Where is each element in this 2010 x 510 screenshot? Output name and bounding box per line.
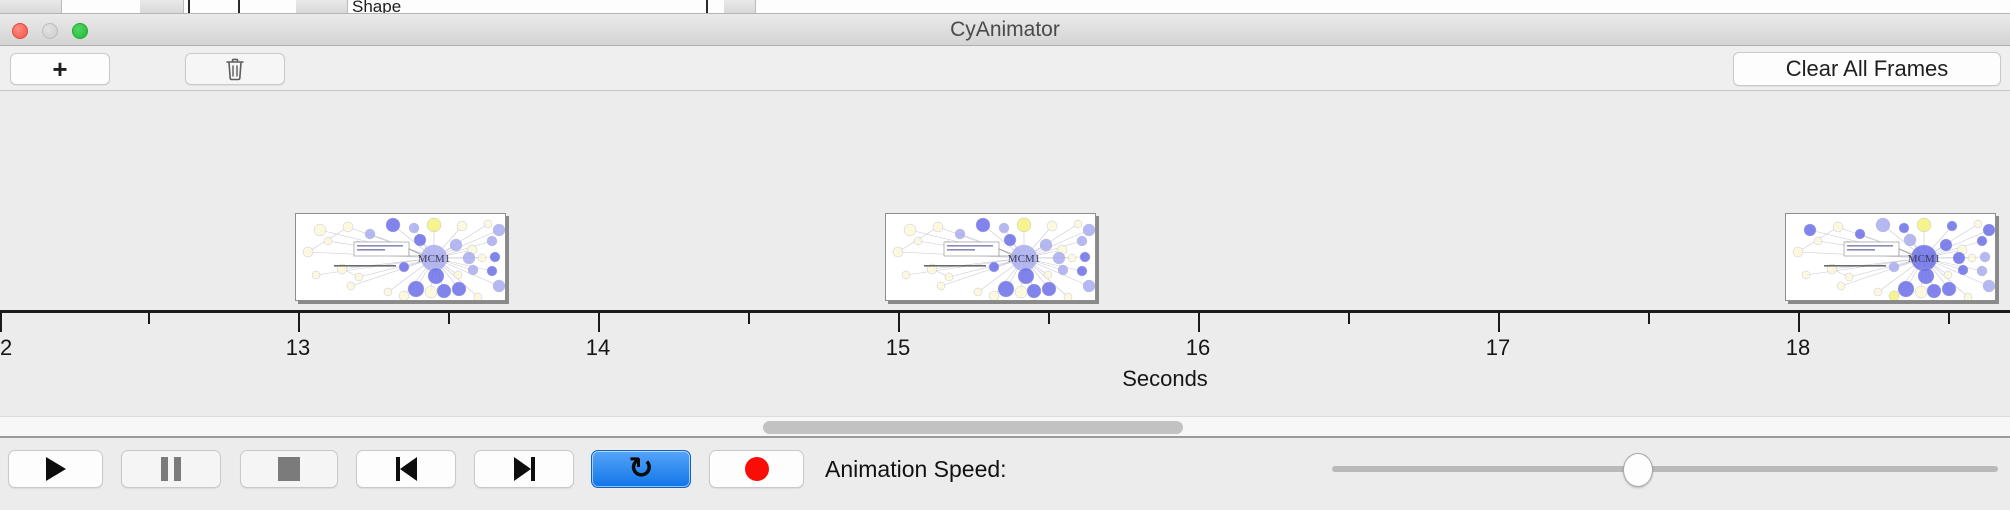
svg-text:MCM1: MCM1 — [1908, 253, 1940, 265]
play-button[interactable] — [8, 450, 103, 488]
pause-button[interactable] — [121, 450, 221, 488]
background-window-tab — [724, 0, 756, 14]
timeline-tick-major — [298, 313, 300, 332]
timeline-tick-minor — [148, 313, 150, 324]
timeline-tick-minor — [448, 313, 450, 324]
background-window-mark — [188, 0, 190, 14]
stop-button[interactable] — [240, 450, 338, 488]
timeline-tick-major — [1498, 313, 1500, 332]
background-window-tab — [0, 0, 62, 14]
horizontal-scrollbar-thumb[interactable] — [763, 421, 1183, 434]
plus-icon: + — [52, 56, 67, 82]
skip-to-start-icon — [396, 457, 417, 481]
background-window-mark — [706, 0, 708, 14]
background-window-mark — [238, 0, 240, 14]
stop-icon — [278, 457, 300, 481]
loop-button[interactable]: ↻ — [591, 450, 691, 488]
window-title: CyAnimator — [0, 14, 2010, 46]
delete-frame-button[interactable] — [185, 53, 285, 85]
skip-to-start-button[interactable] — [356, 450, 456, 488]
clear-all-frames-button[interactable]: Clear All Frames — [1733, 52, 2001, 86]
background-window-sliver: Shape — [0, 0, 2010, 14]
add-frame-button[interactable]: + — [10, 53, 110, 85]
frame-toolbar: + Clear All Frames — [0, 46, 2010, 91]
record-icon — [745, 457, 769, 481]
svg-text:MCM1: MCM1 — [418, 253, 450, 265]
frame-thumbnail-1[interactable]: MCM1 — [295, 213, 506, 301]
timeline-tick-major — [898, 313, 900, 332]
timeline-tick-label: 13 — [268, 335, 328, 361]
frame-thumbnail-2[interactable]: MCM1 — [885, 213, 1096, 301]
play-icon — [46, 457, 66, 481]
animation-speed-label: Animation Speed: — [825, 450, 1007, 488]
timeline-tick-minor — [1948, 313, 1950, 324]
trash-icon — [224, 57, 246, 81]
loop-icon: ↻ — [628, 454, 653, 484]
window-titlebar: CyAnimator — [0, 14, 2010, 46]
timeline-tick-major — [1198, 313, 1200, 332]
timeline-tick-label: 12 — [0, 335, 30, 361]
axis-title: Seconds — [160, 366, 2010, 392]
skip-to-end-button[interactable] — [474, 450, 574, 488]
animation-speed-slider-thumb[interactable] — [1623, 453, 1653, 487]
background-window-tab — [296, 0, 348, 14]
record-button[interactable] — [709, 450, 804, 488]
timeline-tick-label: 15 — [868, 335, 928, 361]
animation-speed-slider-track[interactable] — [1332, 466, 1998, 472]
timeline-axis — [0, 310, 2010, 313]
timeline-tick-minor — [1048, 313, 1050, 324]
pause-icon — [161, 457, 181, 481]
skip-to-end-icon — [514, 457, 535, 481]
timeline-tick-minor — [748, 313, 750, 324]
timeline-tick-minor — [1348, 313, 1350, 324]
timeline-tick-label: 18 — [1768, 335, 1828, 361]
timeline-panel[interactable]: Seconds MCM1 MCM1 — [0, 91, 2010, 416]
animation-speed-slider[interactable] — [1332, 450, 1998, 488]
svg-text:MCM1: MCM1 — [1008, 253, 1040, 265]
timeline-tick-major — [598, 313, 600, 332]
background-window-label: Shape — [352, 0, 401, 14]
background-window-tab — [140, 0, 184, 14]
timeline-tick-label: 14 — [568, 335, 628, 361]
timeline-tick-major — [1798, 313, 1800, 332]
horizontal-scrollbar[interactable] — [0, 416, 2010, 438]
clear-all-frames-label: Clear All Frames — [1786, 56, 1949, 82]
frame-thumbnail-3[interactable]: MCM1 — [1785, 213, 1996, 301]
timeline-tick-label: 16 — [1168, 335, 1228, 361]
timeline-tick-major — [0, 313, 2, 332]
timeline-tick-label: 17 — [1468, 335, 1528, 361]
timeline-tick-minor — [1648, 313, 1650, 324]
playback-control-bar: ↻ Animation Speed: — [0, 440, 2010, 510]
